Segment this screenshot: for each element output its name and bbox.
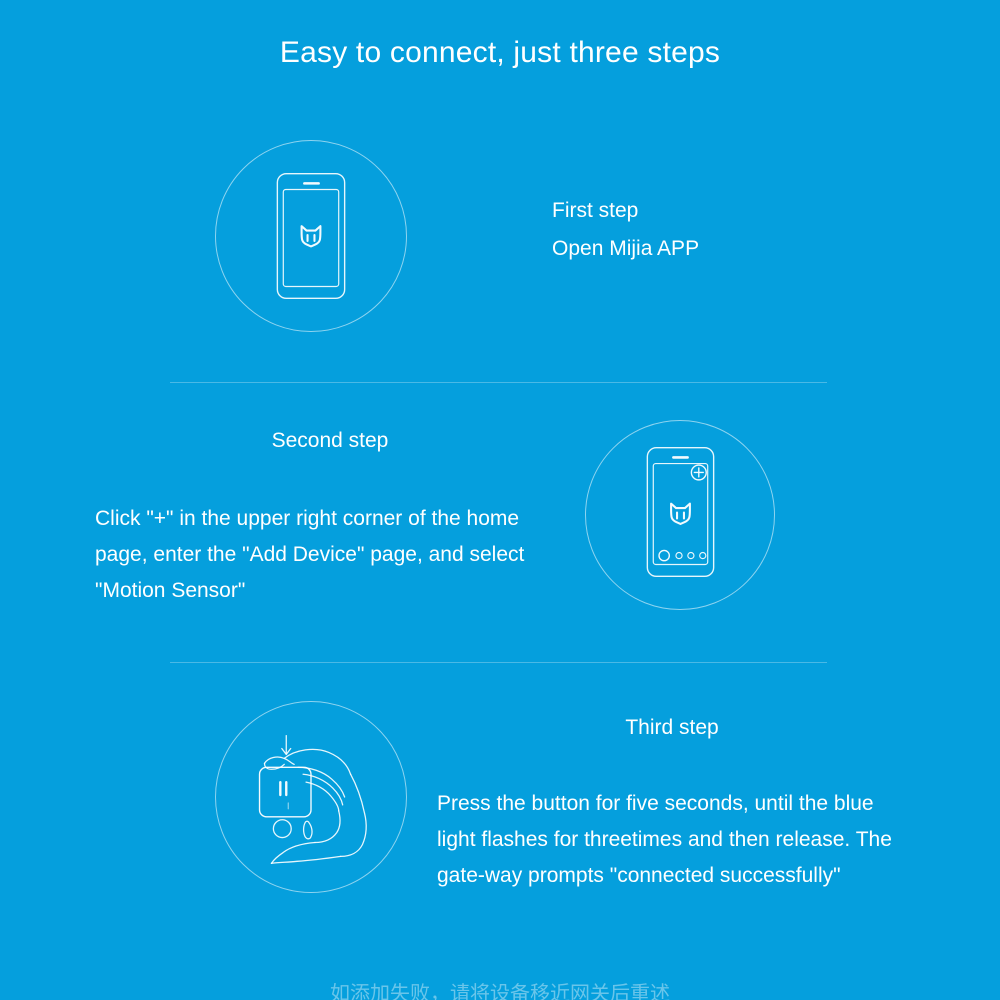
hand-pressing-sensor-icon bbox=[216, 702, 406, 892]
footer-note: 如添加失败，请将设备移近网关后重述 bbox=[0, 980, 1000, 1000]
step-2-row: Second step Click "+" in the upper right… bbox=[95, 420, 775, 610]
press-arrow-icon bbox=[282, 736, 291, 755]
step-2-body: Click "+" in the upper right corner of t… bbox=[95, 501, 565, 609]
step-3-row: Third step Press the button for five sec… bbox=[215, 700, 907, 894]
promo-page: Easy to connect, just three steps F bbox=[0, 0, 1000, 1000]
plus-circle-icon bbox=[691, 465, 706, 480]
phone-mijia-logo-icon bbox=[216, 141, 406, 331]
divider-2 bbox=[170, 662, 827, 663]
page-indicator-dots bbox=[659, 550, 706, 560]
step-2-heading: Second step bbox=[95, 421, 565, 461]
step-2-icon-circle bbox=[585, 420, 775, 610]
step-3-body: Press the button for five seconds, until… bbox=[437, 786, 907, 894]
step-1-body: Open Mijia APP bbox=[552, 231, 699, 267]
phone-add-device-icon bbox=[586, 421, 774, 609]
step-3-text: Third step Press the button for five sec… bbox=[437, 708, 907, 894]
step-2-text: Second step Click "+" in the upper right… bbox=[95, 421, 565, 609]
step-1-row: First step Open Mijia APP bbox=[215, 140, 699, 332]
step-3-icon-circle bbox=[215, 701, 407, 893]
step-3-heading: Third step bbox=[437, 708, 907, 748]
step-1-heading: First step bbox=[552, 191, 699, 231]
mijia-logo-glyph bbox=[302, 226, 321, 246]
step-1-text: First step Open Mijia APP bbox=[552, 191, 699, 267]
mijia-logo-glyph bbox=[671, 504, 690, 524]
step-1-icon-circle bbox=[215, 140, 407, 332]
page-title: Easy to connect, just three steps bbox=[0, 33, 1000, 73]
divider-1 bbox=[170, 382, 827, 383]
